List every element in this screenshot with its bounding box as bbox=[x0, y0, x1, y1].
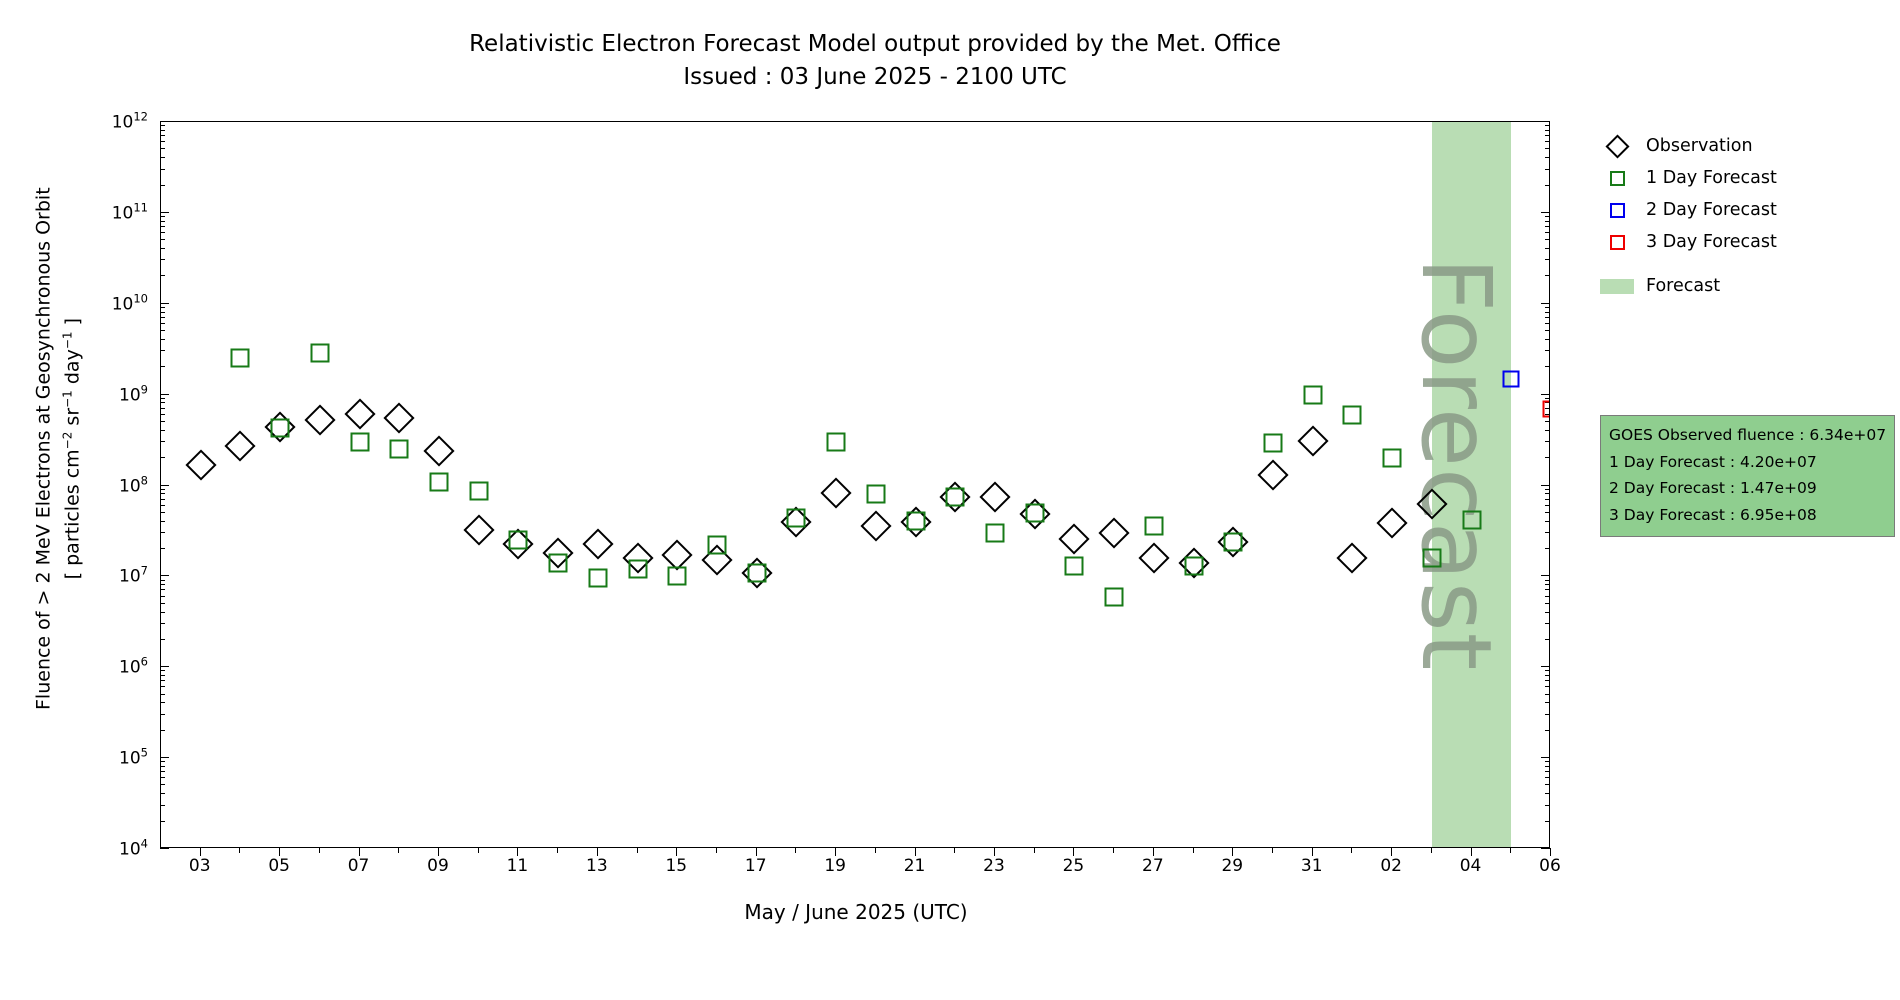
y-tick-minor bbox=[160, 185, 165, 186]
legend-symbol bbox=[1600, 138, 1634, 155]
band-patch-icon bbox=[1600, 279, 1634, 294]
y-tick-major bbox=[160, 303, 169, 304]
y-tick-minor bbox=[160, 612, 165, 613]
legend-symbol bbox=[1600, 279, 1634, 294]
x-tick-minor bbox=[637, 848, 638, 853]
observation-marker bbox=[582, 528, 613, 559]
y-tick-major-right bbox=[1541, 303, 1550, 304]
x-tick-minor bbox=[1351, 848, 1352, 853]
y-tick-minor bbox=[160, 784, 165, 785]
y-axis-title: Fluence of > 2 MeV Electrons at Geosynch… bbox=[29, 129, 86, 769]
1-day-forecast-marker bbox=[747, 563, 766, 582]
x-tick-minor bbox=[716, 848, 717, 853]
y-tick-label: 1010 bbox=[112, 291, 148, 314]
y-tick-minor bbox=[160, 548, 165, 549]
x-tick bbox=[1073, 848, 1074, 856]
1-day-forecast-marker bbox=[390, 440, 409, 459]
y-tick-minor bbox=[160, 441, 165, 442]
y-tick-minor-right bbox=[1545, 421, 1550, 422]
y-tick-minor-right bbox=[1545, 623, 1550, 624]
info-box: GOES Observed fluence : 6.34e+071 Day Fo… bbox=[1600, 415, 1895, 537]
y-tick-minor bbox=[160, 771, 165, 772]
y-tick-minor-right bbox=[1545, 493, 1550, 494]
x-tick-label: 06 bbox=[1539, 856, 1561, 876]
y-tick-minor bbox=[160, 430, 165, 431]
y-tick-minor bbox=[160, 670, 165, 671]
y-tick-minor bbox=[160, 330, 165, 331]
y-tick-minor bbox=[160, 596, 165, 597]
figure: Relativistic Electron Forecast Model out… bbox=[0, 0, 1900, 1000]
1-day-forecast-marker bbox=[1184, 557, 1203, 576]
1-day-forecast-marker bbox=[946, 487, 965, 506]
x-tick-minor bbox=[1431, 848, 1432, 853]
1-day-forecast-marker bbox=[1025, 503, 1044, 522]
y-tick-minor-right bbox=[1545, 702, 1550, 703]
1-day-forecast-marker bbox=[906, 511, 925, 530]
observation-marker bbox=[979, 482, 1010, 513]
y-tick-major bbox=[160, 212, 169, 213]
x-tick-label: 29 bbox=[1221, 856, 1243, 876]
y-tick-minor bbox=[160, 398, 165, 399]
x-tick bbox=[1232, 848, 1233, 856]
x-tick-minor bbox=[1113, 848, 1114, 853]
y-tick-minor-right bbox=[1545, 580, 1550, 581]
y-tick-minor-right bbox=[1545, 603, 1550, 604]
x-tick-minor bbox=[398, 848, 399, 853]
y-tick-minor-right bbox=[1545, 532, 1550, 533]
1-day-forecast-marker bbox=[1422, 548, 1441, 567]
y-tick-minor bbox=[160, 350, 165, 351]
y-tick-minor bbox=[160, 580, 165, 581]
1-day-forecast-marker bbox=[628, 560, 647, 579]
x-tick-label: 17 bbox=[745, 856, 767, 876]
x-tick bbox=[1550, 848, 1551, 856]
observation-marker bbox=[463, 515, 494, 546]
y-tick-minor-right bbox=[1545, 457, 1550, 458]
1-day-forecast-marker bbox=[866, 484, 885, 503]
y-tick-minor-right bbox=[1545, 248, 1550, 249]
1-day-forecast-marker bbox=[986, 524, 1005, 543]
y-tick-minor-right bbox=[1545, 805, 1550, 806]
1-day-forecast-marker bbox=[787, 508, 806, 527]
x-tick-label: 04 bbox=[1460, 856, 1482, 876]
y-tick-minor-right bbox=[1545, 307, 1550, 308]
1-day-forecast-marker bbox=[1224, 532, 1243, 551]
observation-marker bbox=[860, 510, 891, 541]
y-tick-minor-right bbox=[1545, 489, 1550, 490]
x-tick-label: 21 bbox=[904, 856, 926, 876]
x-tick-minor bbox=[875, 848, 876, 853]
y-tick-minor-right bbox=[1545, 675, 1550, 676]
y-tick-minor bbox=[160, 157, 165, 158]
y-tick-label: 106 bbox=[119, 655, 148, 678]
x-tick bbox=[200, 848, 201, 856]
x-tick bbox=[359, 848, 360, 856]
x-tick-minor bbox=[1034, 848, 1035, 853]
observation-marker bbox=[423, 435, 454, 466]
1-day-forecast-marker bbox=[231, 349, 250, 368]
x-tick-label: 13 bbox=[586, 856, 608, 876]
y-tick-minor bbox=[160, 125, 165, 126]
observation-marker bbox=[384, 403, 415, 434]
info-row-2: 2 Day Forecast : 1.47e+09 bbox=[1609, 475, 1886, 502]
1-day-forecast-marker bbox=[1343, 405, 1362, 424]
y-tick-minor bbox=[160, 675, 165, 676]
y-tick-minor-right bbox=[1545, 777, 1550, 778]
1-day-forecast-marker bbox=[310, 343, 329, 362]
legend-symbol bbox=[1600, 171, 1634, 186]
observation-marker bbox=[1059, 523, 1090, 554]
y-tick-minor bbox=[160, 169, 165, 170]
y-tick-minor-right bbox=[1545, 596, 1550, 597]
observation-marker bbox=[225, 431, 256, 462]
y-tick-minor-right bbox=[1545, 226, 1550, 227]
y-tick-minor-right bbox=[1545, 430, 1550, 431]
y-tick-minor bbox=[160, 339, 165, 340]
y-tick-minor bbox=[160, 805, 165, 806]
x-tick-minor bbox=[795, 848, 796, 853]
y-tick-minor bbox=[160, 489, 165, 490]
y-tick-minor bbox=[160, 216, 165, 217]
y-tick-minor-right bbox=[1545, 366, 1550, 367]
y-tick-major-right bbox=[1541, 394, 1550, 395]
y-tick-minor-right bbox=[1545, 761, 1550, 762]
x-tick-label: 15 bbox=[665, 856, 687, 876]
y-tick-major bbox=[160, 121, 169, 122]
y-tick-minor bbox=[160, 603, 165, 604]
y-tick-minor bbox=[160, 761, 165, 762]
1-day-forecast-marker bbox=[827, 433, 846, 452]
y-tick-minor bbox=[160, 414, 165, 415]
y-tick-major bbox=[160, 666, 169, 667]
legend-label: 2 Day Forecast bbox=[1634, 200, 1777, 220]
observation-marker bbox=[1099, 517, 1130, 548]
x-tick bbox=[1391, 848, 1392, 856]
y-tick-minor bbox=[160, 130, 165, 131]
1-day-forecast-marker bbox=[1144, 516, 1163, 535]
y-tick-minor bbox=[160, 259, 165, 260]
1-day-forecast-marker bbox=[1383, 449, 1402, 468]
y-tick-minor-right bbox=[1545, 130, 1550, 131]
y-tick-minor bbox=[160, 402, 165, 403]
observation-marker bbox=[304, 404, 335, 435]
legend-label: 1 Day Forecast bbox=[1634, 168, 1777, 188]
x-tick-label: 25 bbox=[1063, 856, 1085, 876]
legend: Observation1 Day Forecast2 Day Forecast3… bbox=[1600, 130, 1890, 302]
forecast-watermark: Forecast bbox=[1400, 257, 1512, 671]
y-tick-minor-right bbox=[1545, 312, 1550, 313]
x-tick-label: 19 bbox=[824, 856, 846, 876]
y-tick-label: 108 bbox=[119, 473, 148, 496]
title-line-1: Relativistic Electron Forecast Model out… bbox=[0, 28, 1750, 61]
y-tick-major bbox=[160, 757, 169, 758]
y-tick-minor-right bbox=[1545, 793, 1550, 794]
y-tick-minor bbox=[160, 493, 165, 494]
x-tick bbox=[517, 848, 518, 856]
legend-item-forecast[interactable]: Forecast bbox=[1600, 270, 1890, 302]
y-tick-minor bbox=[160, 793, 165, 794]
legend-item-1-day-forecast[interactable]: 1 Day Forecast bbox=[1600, 162, 1890, 194]
y-tick-minor bbox=[160, 135, 165, 136]
y-tick-minor-right bbox=[1545, 639, 1550, 640]
legend-label: Observation bbox=[1634, 136, 1753, 156]
x-tick-label: 02 bbox=[1380, 856, 1402, 876]
x-tick bbox=[438, 848, 439, 856]
x-tick-label: 09 bbox=[427, 856, 449, 876]
y-tick-label: 105 bbox=[119, 746, 148, 769]
x-tick bbox=[597, 848, 598, 856]
y-tick-minor-right bbox=[1545, 259, 1550, 260]
y-tick-minor-right bbox=[1545, 694, 1550, 695]
1-day-forecast-marker bbox=[469, 482, 488, 501]
y-tick-minor-right bbox=[1545, 169, 1550, 170]
y-tick-minor-right bbox=[1545, 730, 1550, 731]
y-tick-minor bbox=[160, 680, 165, 681]
x-tick bbox=[1312, 848, 1313, 856]
1-day-forecast-marker bbox=[668, 567, 687, 586]
y-tick-minor-right bbox=[1545, 275, 1550, 276]
observation-marker bbox=[344, 399, 375, 430]
y-tick-major bbox=[160, 575, 169, 576]
y-tick-minor bbox=[160, 532, 165, 533]
1-day-forecast-marker bbox=[1264, 434, 1283, 453]
legend-symbol bbox=[1600, 235, 1634, 250]
x-tick-label: 05 bbox=[268, 856, 290, 876]
y-tick-minor-right bbox=[1545, 714, 1550, 715]
y-tick-minor bbox=[160, 639, 165, 640]
x-tick bbox=[994, 848, 995, 856]
y-tick-minor bbox=[160, 248, 165, 249]
observation-marker bbox=[1138, 542, 1169, 573]
x-tick-label: 31 bbox=[1301, 856, 1323, 876]
1-day-forecast-marker bbox=[350, 433, 369, 452]
observation-marker bbox=[821, 478, 852, 509]
x-tick-label: 03 bbox=[189, 856, 211, 876]
1-day-forecast-marker bbox=[1065, 557, 1084, 576]
y-tick-minor bbox=[160, 148, 165, 149]
y-tick-minor-right bbox=[1545, 686, 1550, 687]
1-day-forecast-marker bbox=[1303, 386, 1322, 405]
y-tick-minor bbox=[160, 766, 165, 767]
observation-marker bbox=[1297, 425, 1328, 456]
y-tick-minor-right bbox=[1545, 512, 1550, 513]
y-tick-minor-right bbox=[1545, 221, 1550, 222]
y-tick-minor-right bbox=[1545, 330, 1550, 331]
legend-item-observation[interactable]: Observation bbox=[1600, 130, 1890, 162]
1-day-forecast-marker bbox=[588, 569, 607, 588]
2-day-forecast-marker bbox=[1503, 371, 1520, 388]
1-day-forecast-marker bbox=[1105, 588, 1124, 607]
legend-item-2-day-forecast[interactable]: 2 Day Forecast bbox=[1600, 194, 1890, 226]
info-row-0: GOES Observed fluence : 6.34e+07 bbox=[1609, 422, 1886, 449]
y-tick-minor bbox=[160, 221, 165, 222]
y-tick-minor-right bbox=[1545, 323, 1550, 324]
y-tick-minor bbox=[160, 275, 165, 276]
y-tick-minor bbox=[160, 702, 165, 703]
y-tick-minor bbox=[160, 730, 165, 731]
y-axis-title-line2: [ particles cm−2 sr−1 day−1 ] bbox=[58, 129, 87, 769]
y-tick-minor-right bbox=[1545, 784, 1550, 785]
y-tick-minor-right bbox=[1545, 216, 1550, 217]
observation-marker bbox=[1257, 460, 1288, 491]
1-day-forecast-marker bbox=[549, 554, 568, 573]
y-tick-minor bbox=[160, 499, 165, 500]
x-tick bbox=[915, 848, 916, 856]
y-tick-minor-right bbox=[1545, 548, 1550, 549]
y-tick-label: 1012 bbox=[112, 110, 148, 133]
y-tick-minor-right bbox=[1545, 612, 1550, 613]
y-tick-minor bbox=[160, 686, 165, 687]
1-day-forecast-marker bbox=[271, 418, 290, 437]
y-axis-title-line1: Fluence of > 2 MeV Electrons at Geosynch… bbox=[29, 129, 58, 769]
y-tick-minor-right bbox=[1545, 821, 1550, 822]
x-tick-minor bbox=[954, 848, 955, 853]
info-row-1: 1 Day Forecast : 4.20e+07 bbox=[1609, 449, 1886, 476]
y-tick-minor-right bbox=[1545, 141, 1550, 142]
y-tick-minor-right bbox=[1545, 339, 1550, 340]
y-tick-label: 109 bbox=[119, 382, 148, 405]
legend-item-3-day-forecast[interactable]: 3 Day Forecast bbox=[1600, 226, 1890, 258]
y-tick-minor-right bbox=[1545, 670, 1550, 671]
plot-area: Forecast bbox=[160, 121, 1550, 848]
3-day-forecast-marker bbox=[1543, 400, 1551, 417]
y-tick-minor-right bbox=[1545, 350, 1550, 351]
y-tick-minor bbox=[160, 323, 165, 324]
y-tick-minor bbox=[160, 623, 165, 624]
y-tick-minor-right bbox=[1545, 239, 1550, 240]
y-tick-major-right bbox=[1541, 757, 1550, 758]
y-tick-minor bbox=[160, 777, 165, 778]
y-tick-minor bbox=[160, 232, 165, 233]
y-tick-minor-right bbox=[1545, 584, 1550, 585]
y-tick-minor-right bbox=[1545, 232, 1550, 233]
x-tick-minor bbox=[239, 848, 240, 853]
y-tick-major bbox=[160, 848, 169, 849]
y-tick-minor-right bbox=[1545, 125, 1550, 126]
y-tick-major-right bbox=[1541, 485, 1550, 486]
y-tick-minor bbox=[160, 226, 165, 227]
y-tick-minor bbox=[160, 239, 165, 240]
x-tick-label: 11 bbox=[507, 856, 529, 876]
x-tick-label: 23 bbox=[983, 856, 1005, 876]
square-icon bbox=[1610, 171, 1625, 186]
1-day-forecast-marker bbox=[708, 536, 727, 555]
y-tick-minor bbox=[160, 317, 165, 318]
y-tick-minor bbox=[160, 589, 165, 590]
y-tick-minor bbox=[160, 457, 165, 458]
x-tick bbox=[279, 848, 280, 856]
y-tick-minor-right bbox=[1545, 441, 1550, 442]
figure-title: Relativistic Electron Forecast Model out… bbox=[0, 28, 1750, 95]
x-tick-minor bbox=[478, 848, 479, 853]
y-tick-minor-right bbox=[1545, 680, 1550, 681]
x-axis-title: May / June 2025 (UTC) bbox=[0, 900, 1712, 924]
y-tick-minor-right bbox=[1545, 771, 1550, 772]
title-line-2: Issued : 03 June 2025 - 2100 UTC bbox=[0, 61, 1750, 94]
y-tick-minor bbox=[160, 694, 165, 695]
y-tick-major-right bbox=[1541, 848, 1550, 849]
x-tick bbox=[835, 848, 836, 856]
y-tick-major-right bbox=[1541, 575, 1550, 576]
y-tick-major-right bbox=[1541, 666, 1550, 667]
observation-marker bbox=[1337, 542, 1368, 573]
y-tick-minor-right bbox=[1545, 398, 1550, 399]
info-row-3: 3 Day Forecast : 6.95e+08 bbox=[1609, 502, 1886, 529]
x-tick bbox=[1153, 848, 1154, 856]
square-icon bbox=[1610, 235, 1625, 250]
y-tick-label: 104 bbox=[119, 837, 148, 860]
x-tick bbox=[676, 848, 677, 856]
x-tick-minor bbox=[319, 848, 320, 853]
y-tick-minor-right bbox=[1545, 521, 1550, 522]
legend-label: 3 Day Forecast bbox=[1634, 232, 1777, 252]
x-tick-minor bbox=[1193, 848, 1194, 853]
y-tick-minor bbox=[160, 141, 165, 142]
legend-symbol bbox=[1600, 203, 1634, 218]
y-tick-minor-right bbox=[1545, 135, 1550, 136]
y-tick-minor bbox=[160, 584, 165, 585]
y-tick-minor-right bbox=[1545, 148, 1550, 149]
y-tick-label: 107 bbox=[119, 564, 148, 587]
y-tick-minor-right bbox=[1545, 505, 1550, 506]
y-tick-minor-right bbox=[1545, 185, 1550, 186]
y-tick-major-right bbox=[1541, 121, 1550, 122]
y-tick-minor bbox=[160, 312, 165, 313]
y-tick-minor bbox=[160, 521, 165, 522]
y-tick-minor-right bbox=[1545, 157, 1550, 158]
x-tick-minor bbox=[1272, 848, 1273, 853]
legend-label: Forecast bbox=[1634, 276, 1720, 296]
diamond-icon bbox=[1605, 134, 1629, 158]
y-tick-minor bbox=[160, 821, 165, 822]
y-tick-minor bbox=[160, 307, 165, 308]
y-tick-minor bbox=[160, 512, 165, 513]
x-tick-label: 07 bbox=[348, 856, 370, 876]
y-tick-minor bbox=[160, 505, 165, 506]
y-tick-minor bbox=[160, 421, 165, 422]
x-tick-minor bbox=[557, 848, 558, 853]
y-tick-minor-right bbox=[1545, 589, 1550, 590]
y-tick-minor bbox=[160, 714, 165, 715]
x-tick-minor bbox=[1510, 848, 1511, 853]
x-tick-label: 27 bbox=[1142, 856, 1164, 876]
1-day-forecast-marker bbox=[1462, 510, 1481, 529]
y-tick-major bbox=[160, 485, 169, 486]
1-day-forecast-marker bbox=[509, 531, 528, 550]
y-tick-minor bbox=[160, 408, 165, 409]
y-tick-minor-right bbox=[1545, 317, 1550, 318]
y-tick-major bbox=[160, 394, 169, 395]
x-tick bbox=[756, 848, 757, 856]
square-icon bbox=[1610, 203, 1625, 218]
1-day-forecast-marker bbox=[430, 472, 449, 491]
x-tick bbox=[1471, 848, 1472, 856]
observation-marker bbox=[185, 449, 216, 480]
y-tick-minor-right bbox=[1545, 499, 1550, 500]
y-tick-minor bbox=[160, 366, 165, 367]
y-tick-label: 1011 bbox=[112, 201, 148, 224]
y-tick-minor-right bbox=[1545, 766, 1550, 767]
y-tick-major-right bbox=[1541, 212, 1550, 213]
